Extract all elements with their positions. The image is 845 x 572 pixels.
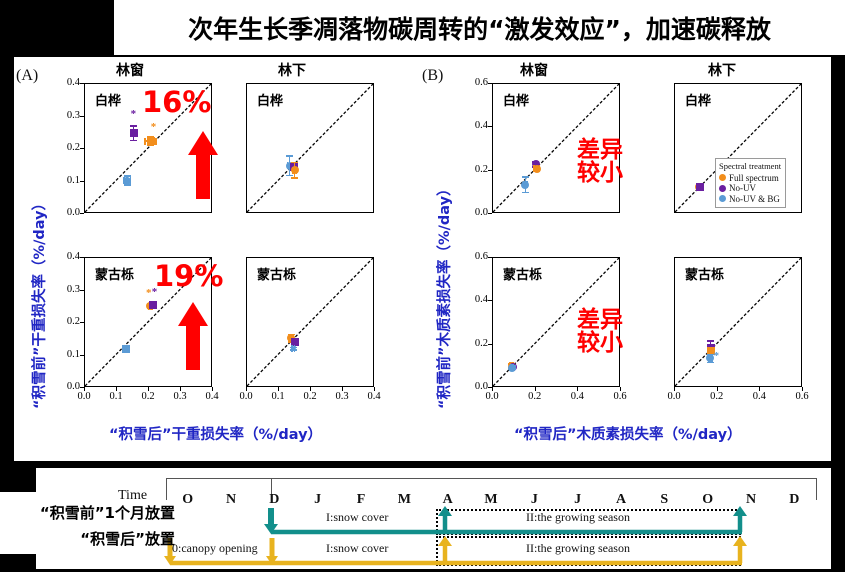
significance-asterisk: * bbox=[151, 123, 157, 131]
y-tick-label: 0.6 bbox=[462, 77, 488, 88]
x-tick-label: 0.3 bbox=[329, 391, 355, 402]
y-tick-label: 0.6 bbox=[462, 251, 488, 262]
panel-b-column-header-canopy-gap: 林窗 bbox=[474, 60, 594, 80]
title-band: 次年生长季凋落物碳周转的“激发效应”，加速碳释放 bbox=[114, 0, 845, 55]
y-tick-label: 0.4 bbox=[54, 251, 80, 262]
legend-item-full-spectrum[interactable]: Full spectrum bbox=[719, 173, 781, 184]
subplot-title-b1: 白桦 bbox=[503, 90, 529, 109]
red-up-arrow-a1 bbox=[188, 131, 218, 199]
x-tick-label: 0.4 bbox=[361, 391, 387, 402]
legend-item-no-uv[interactable]: No-UV bbox=[719, 183, 781, 194]
y-tick-label: 0.1 bbox=[54, 175, 80, 186]
y-tick-label: 0.4 bbox=[54, 77, 80, 88]
y-tick-mark bbox=[488, 170, 492, 171]
significance-asterisk: * bbox=[146, 289, 152, 297]
marker-no-uv[interactable] bbox=[130, 129, 138, 137]
timeline-bracket-tick-right bbox=[816, 478, 817, 500]
x-tick-mark bbox=[620, 387, 621, 391]
x-tick-mark bbox=[180, 387, 181, 391]
error-bar-cap bbox=[291, 177, 298, 179]
y-tick-label: 0.2 bbox=[54, 142, 80, 153]
error-bar-cap bbox=[707, 340, 714, 342]
plot-b-understory-birch[interactable]: 白桦 Spectral treatment Full spectrum No-U… bbox=[674, 83, 802, 213]
x-tick-label: 0.0 bbox=[233, 391, 259, 402]
y-tick-mark bbox=[80, 322, 84, 323]
panel-a-column-header-understory: 林下 bbox=[232, 60, 352, 80]
annotation-line-1: 差异 bbox=[562, 139, 638, 162]
marker-full-spectrum[interactable] bbox=[533, 165, 541, 173]
error-bar-cap bbox=[286, 155, 293, 157]
annotation-small-difference-b1: 差异 较小 bbox=[562, 139, 638, 185]
error-bar-cap bbox=[522, 176, 529, 178]
annotation-line-2: 较小 bbox=[562, 162, 638, 185]
y-tick-mark bbox=[488, 83, 492, 84]
subplot-title-a4: 蒙古栎 bbox=[257, 264, 296, 283]
x-tick-label: 0.2 bbox=[522, 391, 548, 402]
page-title: 次年生长季凋落物碳周转的“激发效应”，加速碳释放 bbox=[188, 10, 771, 46]
panel-b-y-axis-title: “积雪前”木质素损失率（%/day） bbox=[433, 181, 454, 409]
x-tick-mark bbox=[278, 387, 279, 391]
timeline-label-canopy-opening: 0:canopy opening bbox=[172, 541, 258, 556]
annotation-line-1: 差异 bbox=[562, 309, 638, 332]
figure-panel: (A) 林窗 林下 “积雪前”干重损失率（%/day） “积雪后”干重损失率（%… bbox=[14, 57, 831, 461]
y-tick-mark bbox=[488, 344, 492, 345]
legend-title: Spectral treatment bbox=[719, 161, 781, 172]
y-tick-mark bbox=[488, 213, 492, 214]
marker-full-spectrum[interactable] bbox=[147, 137, 155, 145]
x-tick-mark bbox=[717, 387, 718, 391]
plot-b-understory-oak[interactable]: 蒙古栎 bbox=[674, 257, 802, 387]
x-tick-label: 0.2 bbox=[135, 391, 161, 402]
x-tick-mark bbox=[116, 387, 117, 391]
timeline-label-growing-season-bottom: II:the growing season bbox=[526, 541, 630, 556]
x-tick-mark bbox=[148, 387, 149, 391]
subplot-title-b3: 蒙古栎 bbox=[503, 264, 542, 283]
x-tick-mark bbox=[246, 387, 247, 391]
marker-full-spectrum[interactable] bbox=[291, 166, 299, 174]
error-bar-cap bbox=[130, 125, 137, 127]
y-tick-label: 0.4 bbox=[462, 294, 488, 305]
y-tick-mark bbox=[80, 181, 84, 182]
error-bar-cap bbox=[130, 140, 137, 142]
timeline-cn-label-before-snow: “积雪前”1个月放置 bbox=[0, 502, 175, 523]
panel-a-x-axis-title: “积雪后”干重损失率（%/day） bbox=[109, 423, 322, 444]
legend-label-no-uv: No-UV bbox=[729, 183, 756, 194]
y-tick-label: 0.2 bbox=[462, 164, 488, 175]
subplot-title-a1: 白桦 bbox=[95, 90, 121, 109]
y-tick-mark bbox=[80, 257, 84, 258]
y-tick-label: 0.0 bbox=[462, 207, 488, 218]
y-tick-label: 0.1 bbox=[54, 349, 80, 360]
y-tick-label: 0.3 bbox=[54, 110, 80, 121]
error-bar-cap bbox=[291, 162, 298, 164]
y-tick-label: 0.3 bbox=[54, 284, 80, 295]
marker-no-uv-bg[interactable] bbox=[291, 346, 296, 351]
marker-no-uv[interactable] bbox=[149, 301, 157, 309]
marker-no-uv[interactable] bbox=[696, 183, 704, 191]
panel-a-column-header-canopy-gap: 林窗 bbox=[70, 60, 190, 80]
y-tick-mark bbox=[80, 290, 84, 291]
legend-spectral-treatment[interactable]: Spectral treatment Full spectrum No-UV N… bbox=[715, 158, 786, 208]
marker-no-uv-bg[interactable] bbox=[123, 177, 131, 185]
x-tick-mark bbox=[577, 387, 578, 391]
timeline-label-snow-cover-top: I:snow cover bbox=[326, 510, 388, 525]
significance-asterisk: * bbox=[152, 288, 158, 296]
x-tick-label: 0.4 bbox=[746, 391, 772, 402]
subplot-title-b4: 蒙古栎 bbox=[685, 264, 724, 283]
panel-letter-a: (A) bbox=[16, 67, 38, 85]
x-tick-label: 0.0 bbox=[661, 391, 687, 402]
annotation-small-difference-b3: 差异 较小 bbox=[562, 309, 638, 355]
y-tick-label: 0.2 bbox=[54, 316, 80, 327]
panel-a-y-axis-title: “积雪前”干重损失率（%/day） bbox=[28, 196, 49, 409]
red-up-arrow-a3 bbox=[178, 302, 208, 370]
y-tick-mark bbox=[488, 126, 492, 127]
x-tick-mark bbox=[212, 387, 213, 391]
x-tick-label: 0.6 bbox=[607, 391, 633, 402]
panel-b-column-header-understory: 林下 bbox=[662, 60, 782, 80]
error-bar-cap bbox=[522, 192, 529, 194]
timeline-top-bracket bbox=[166, 478, 816, 479]
figure-stage: 次年生长季凋落物碳周转的“激发效应”，加速碳释放 (A) 林窗 林下 “积雪前”… bbox=[0, 0, 845, 572]
legend-label-no-uv-bg: No-UV & BG bbox=[729, 194, 780, 205]
x-tick-label: 0.0 bbox=[479, 391, 505, 402]
y-tick-label: 0.0 bbox=[54, 207, 80, 218]
right-black-border bbox=[831, 0, 845, 572]
x-tick-mark bbox=[342, 387, 343, 391]
annotation-percent-16: 16% bbox=[142, 85, 211, 119]
x-tick-mark bbox=[759, 387, 760, 391]
y-tick-label: 0.4 bbox=[462, 120, 488, 131]
x-tick-mark bbox=[374, 387, 375, 391]
marker-no-uv-bg[interactable] bbox=[122, 345, 130, 353]
annotation-line-2: 较小 bbox=[562, 332, 638, 355]
subplot-title-a3: 蒙古栎 bbox=[95, 264, 134, 283]
significance-asterisk: * bbox=[714, 352, 720, 360]
legend-swatch-full-spectrum bbox=[719, 174, 726, 181]
x-tick-mark bbox=[802, 387, 803, 391]
error-bar-cap bbox=[155, 138, 157, 145]
x-tick-mark bbox=[84, 387, 85, 391]
legend-item-no-uv-bg[interactable]: No-UV & BG bbox=[719, 194, 781, 205]
timeline-cn-label-after-snow: “积雪后”放置 bbox=[0, 528, 175, 549]
timeline-label-growing-season-top: II:the growing season bbox=[526, 510, 630, 525]
plot-a-understory-birch[interactable]: 白桦 bbox=[246, 83, 374, 213]
x-tick-label: 0.2 bbox=[297, 391, 323, 402]
legend-swatch-no-uv-bg bbox=[719, 195, 726, 202]
x-tick-label: 0.6 bbox=[789, 391, 815, 402]
y-tick-mark bbox=[488, 257, 492, 258]
y-tick-mark bbox=[80, 148, 84, 149]
y-tick-mark bbox=[80, 355, 84, 356]
legend-label-full-spectrum: Full spectrum bbox=[729, 173, 779, 184]
x-tick-label: 0.1 bbox=[265, 391, 291, 402]
x-tick-label: 0.4 bbox=[564, 391, 590, 402]
x-tick-label: 0.1 bbox=[103, 391, 129, 402]
significance-asterisk: * bbox=[131, 110, 137, 118]
annotation-percent-19: 19% bbox=[154, 259, 223, 293]
subplot-title-b2: 白桦 bbox=[685, 90, 711, 109]
legend-swatch-no-uv bbox=[719, 185, 726, 192]
left-black-border bbox=[0, 0, 14, 572]
plot-a-understory-oak[interactable]: 蒙古栎 bbox=[246, 257, 374, 387]
x-tick-label: 0.4 bbox=[199, 391, 225, 402]
panel-b-x-axis-title: “积雪后”木质素损失率（%/day） bbox=[514, 423, 742, 444]
x-tick-mark bbox=[492, 387, 493, 391]
y-tick-mark bbox=[488, 300, 492, 301]
x-tick-mark bbox=[310, 387, 311, 391]
y-tick-mark bbox=[80, 213, 84, 214]
timeline-bracket-tick-left bbox=[166, 478, 167, 500]
x-tick-mark bbox=[674, 387, 675, 391]
x-tick-label: 0.2 bbox=[704, 391, 730, 402]
subplot-title-a2: 白桦 bbox=[257, 90, 283, 109]
y-tick-mark bbox=[80, 83, 84, 84]
panel-letter-b: (B) bbox=[422, 67, 443, 85]
x-tick-label: 0.0 bbox=[71, 391, 97, 402]
x-tick-mark bbox=[535, 387, 536, 391]
x-tick-label: 0.3 bbox=[167, 391, 193, 402]
marker-no-uv-bg[interactable] bbox=[508, 364, 516, 372]
y-tick-mark bbox=[80, 116, 84, 117]
y-tick-label: 0.2 bbox=[462, 338, 488, 349]
timeline-label-snow-cover-bottom: I:snow cover bbox=[326, 541, 388, 556]
